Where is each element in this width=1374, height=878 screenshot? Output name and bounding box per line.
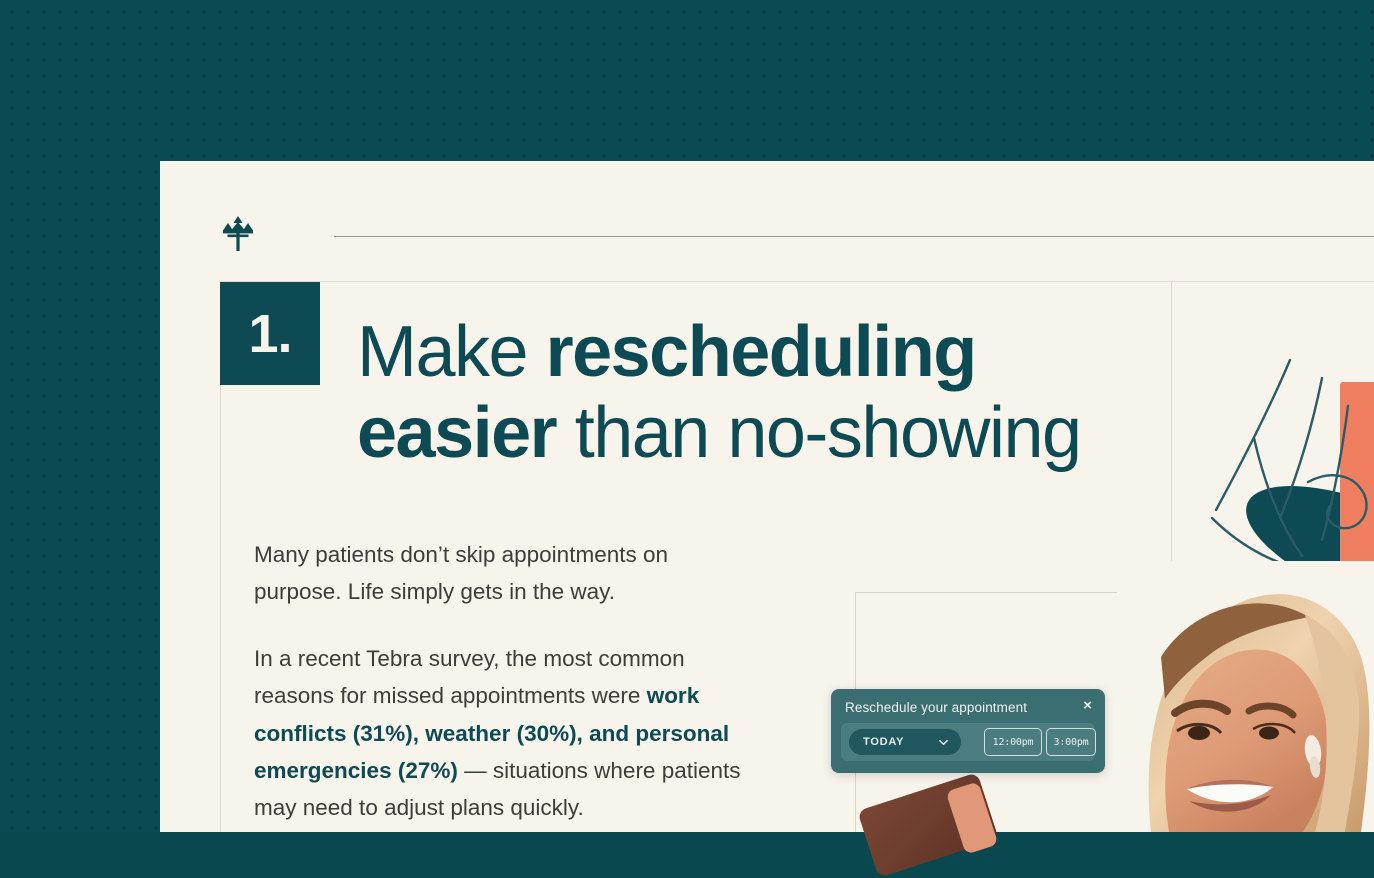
close-icon[interactable]: ×	[1083, 698, 1092, 713]
logo-divider	[334, 236, 1374, 237]
body-copy: Many patients don’t skip appointments on…	[254, 536, 754, 832]
paragraph-1-text: Many patients don’t skip appointments on…	[254, 542, 668, 604]
time-slot-button-2[interactable]: 3:00pm	[1046, 728, 1096, 756]
headline-line1-plain: Make	[357, 312, 546, 392]
headline-line2-plain: than no-showing	[556, 393, 1080, 473]
day-selector-value: TODAY	[863, 736, 904, 748]
headline-line2-bold: easier	[357, 393, 556, 473]
headline-line1-bold: rescheduling	[546, 312, 976, 392]
step-number-badge: 1.	[220, 282, 320, 385]
chevron-down-icon	[939, 738, 948, 747]
reschedule-controls-bar: TODAY 12:00pm 3:00pm	[841, 723, 1095, 761]
day-selector-dropdown[interactable]: TODAY	[849, 729, 961, 755]
reschedule-title: Reschedule your appointment	[845, 700, 1027, 715]
page-title: Make reschedulingeasier than no-showing	[357, 312, 1137, 473]
paragraph-1: Many patients don’t skip appointments on…	[254, 536, 754, 610]
reschedule-widget[interactable]: Reschedule your appointment × TODAY 12:0…	[831, 689, 1105, 773]
tebra-tree-icon	[220, 213, 256, 253]
time-slot-button-1[interactable]: 12:00pm	[984, 728, 1042, 756]
logo-row	[220, 213, 1374, 255]
paragraph-2-text-a: In a recent Tebra survey, the most commo…	[254, 646, 685, 708]
paragraph-2: In a recent Tebra survey, the most commo…	[254, 640, 754, 826]
photo-smiling-woman	[1117, 561, 1374, 832]
